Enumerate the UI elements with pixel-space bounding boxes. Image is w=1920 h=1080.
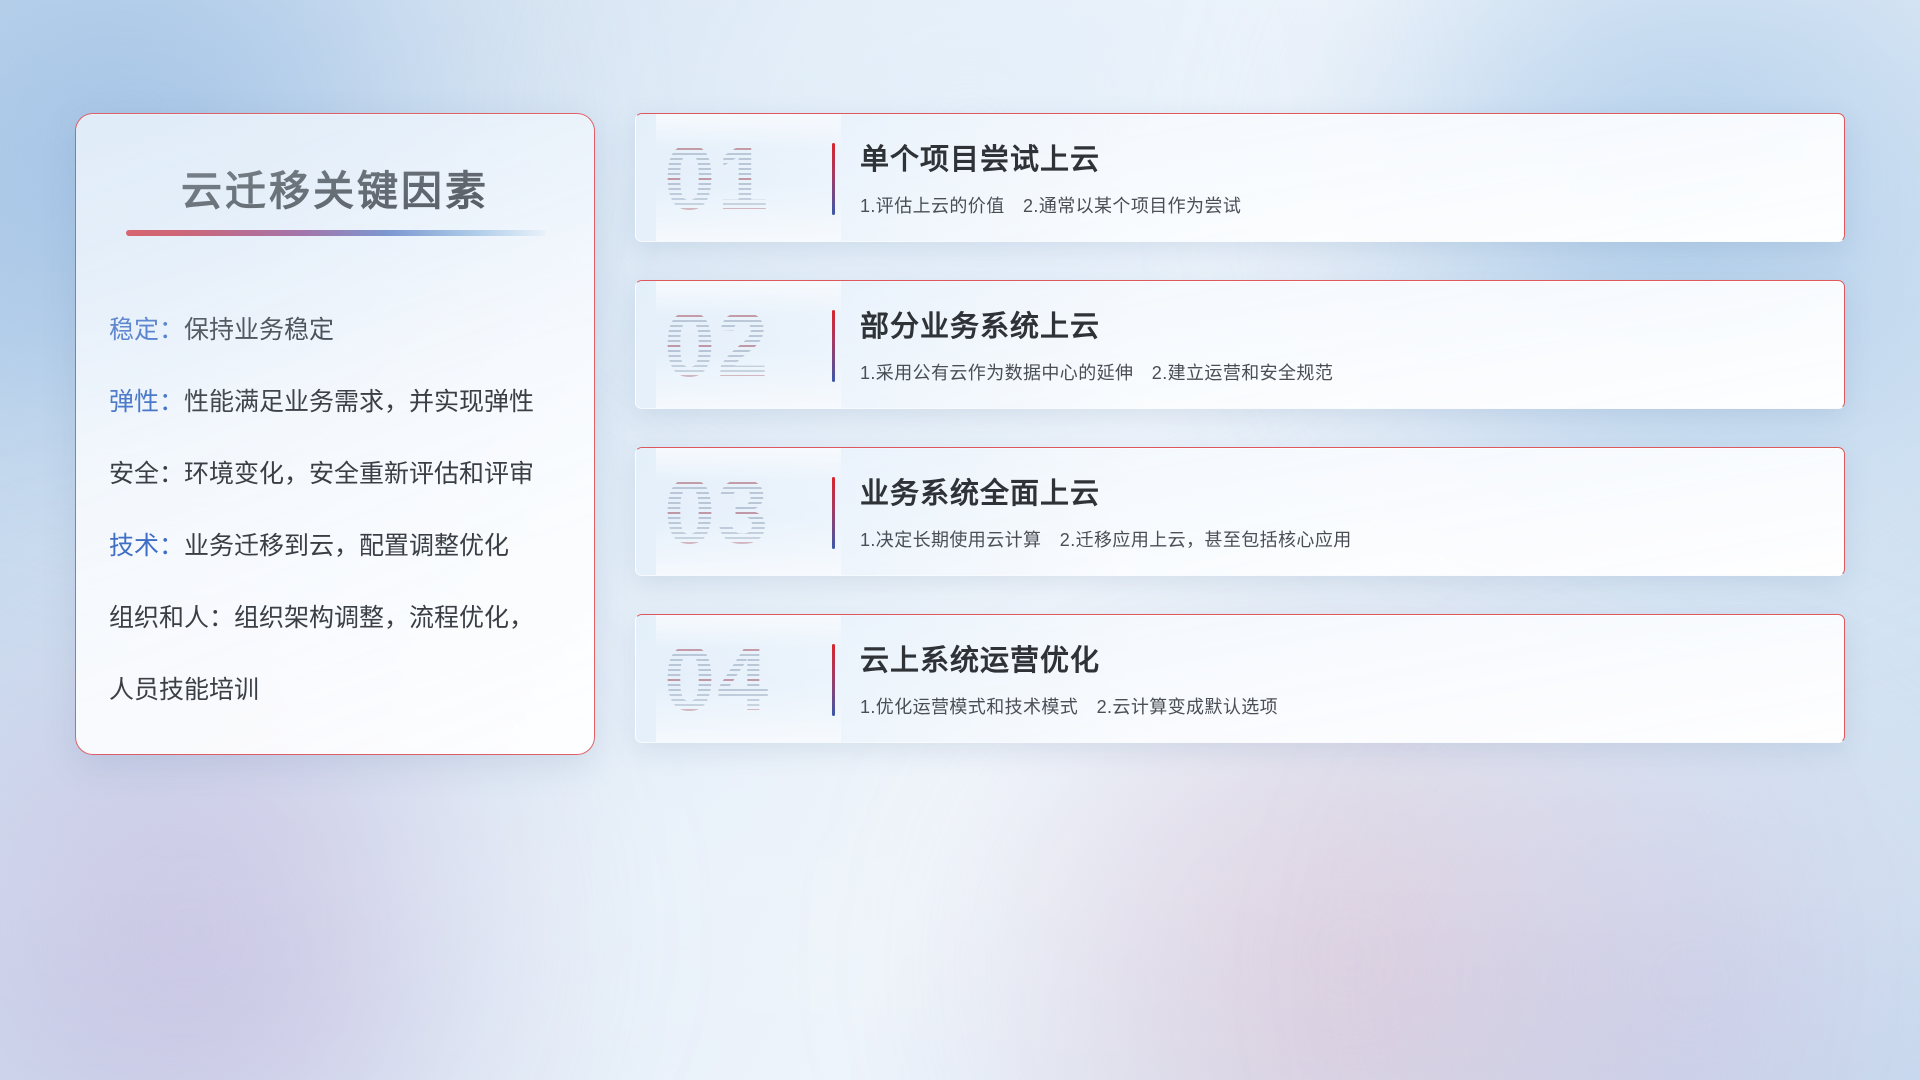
list-item-text: 保持业务稳定 (184, 316, 334, 344)
key-factors-list: 稳定：保持业务稳定 弹性：性能满足业务需求，并实现弹性 安全：环境变化，安全重新… (109, 310, 570, 706)
card-description: 1.评估上云的价值 2.通常以某个项目作为尝试 (860, 192, 1820, 218)
list-item-text: 人员技能培训 (109, 676, 259, 704)
stage-number-accent-stripes: 01 (664, 118, 824, 238)
card-divider-accent (832, 310, 835, 382)
list-item-text: 组织架构调整，流程优化， (234, 604, 534, 632)
list-item-label: 稳定： (109, 316, 184, 344)
card-title: 云上系统运营优化 (860, 637, 1820, 679)
card-divider-accent (832, 644, 835, 716)
list-item-label: 技术： (109, 532, 184, 560)
list-item: 安全：环境变化，安全重新评估和评审 (109, 454, 570, 490)
card-description: 1.决定长期使用云计算 2.迁移应用上云，甚至包括核心应用 (860, 526, 1820, 552)
list-item: 人员技能培训 (109, 670, 570, 706)
card-body: 业务系统全面上云 1.决定长期使用云计算 2.迁移应用上云，甚至包括核心应用 (860, 470, 1820, 552)
stage-cards-list: 01 01 单个项目尝试上云 1.评估上云的价值 2.通常以某个项目作为尝试 0… (635, 113, 1845, 743)
title-underline-accent (126, 230, 546, 236)
card-body: 云上系统运营优化 1.优化运营模式和技术模式 2.云计算变成默认选项 (860, 637, 1820, 719)
stage-number-accent-stripes: 04 (664, 619, 824, 739)
list-item-text: 业务迁移到云，配置调整优化 (184, 532, 509, 560)
list-item: 弹性：性能满足业务需求，并实现弹性 (109, 382, 570, 418)
card-divider-accent (832, 477, 835, 549)
list-item: 技术：业务迁移到云，配置调整优化 (109, 526, 570, 562)
list-item-label: 弹性： (109, 388, 184, 416)
list-item-label: 组织和人： (109, 604, 234, 632)
key-factors-panel: 云迁移关键因素 稳定：保持业务稳定 弹性：性能满足业务需求，并实现弹性 安全：环… (75, 113, 595, 755)
stage-card[interactable]: 04 04 云上系统运营优化 1.优化运营模式和技术模式 2.云计算变成默认选项 (635, 614, 1845, 743)
card-description: 1.采用公有云作为数据中心的延伸 2.建立运营和安全规范 (860, 359, 1820, 385)
stage-card[interactable]: 01 01 单个项目尝试上云 1.评估上云的价值 2.通常以某个项目作为尝试 (635, 113, 1845, 242)
card-description: 1.优化运营模式和技术模式 2.云计算变成默认选项 (860, 693, 1820, 719)
card-divider-accent (832, 143, 835, 215)
list-item: 组织和人：组织架构调整，流程优化， (109, 598, 570, 634)
stage-number-accent-stripes: 03 (664, 452, 824, 572)
list-item-text: 性能满足业务需求，并实现弹性 (184, 388, 534, 416)
stage-card[interactable]: 03 03 业务系统全面上云 1.决定长期使用云计算 2.迁移应用上云，甚至包括… (635, 447, 1845, 576)
list-item: 稳定：保持业务稳定 (109, 310, 570, 346)
slide-canvas: 云迁移关键因素 稳定：保持业务稳定 弹性：性能满足业务需求，并实现弹性 安全：环… (0, 0, 1920, 1080)
stage-card[interactable]: 02 02 部分业务系统上云 1.采用公有云作为数据中心的延伸 2.建立运营和安… (635, 280, 1845, 409)
stage-number-accent-stripes: 02 (664, 285, 824, 405)
list-item-text: 环境变化，安全重新评估和评审 (184, 460, 534, 488)
card-title: 部分业务系统上云 (860, 303, 1820, 345)
page-title: 云迁移关键因素 (76, 157, 594, 217)
card-title: 业务系统全面上云 (860, 470, 1820, 512)
card-body: 部分业务系统上云 1.采用公有云作为数据中心的延伸 2.建立运营和安全规范 (860, 303, 1820, 385)
card-title: 单个项目尝试上云 (860, 136, 1820, 178)
card-body: 单个项目尝试上云 1.评估上云的价值 2.通常以某个项目作为尝试 (860, 136, 1820, 218)
list-item-label: 安全： (109, 460, 184, 488)
